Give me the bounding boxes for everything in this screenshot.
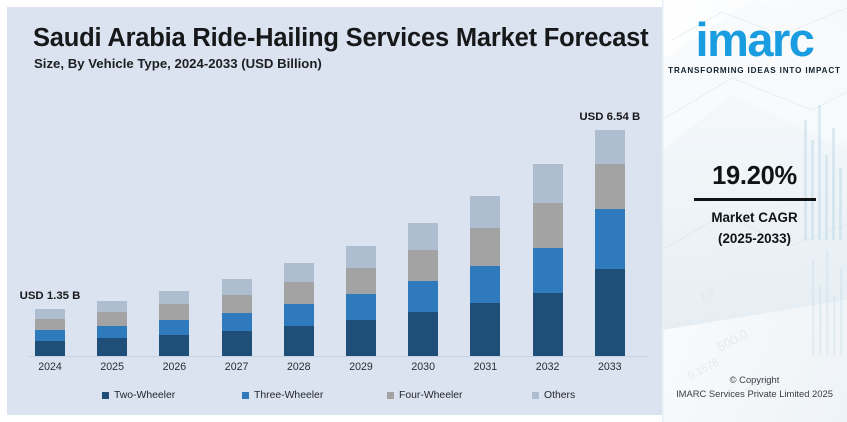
legend-item-others[interactable]: Others [532, 390, 575, 401]
bar-segment-others [408, 223, 438, 250]
bar-segment-three-wheeler [222, 313, 252, 331]
chart-subtitle: Size, By Vehicle Type, 2024-2033 (USD Bi… [34, 56, 322, 71]
legend-label: Others [544, 390, 575, 401]
bar-segment-two-wheeler [533, 293, 563, 356]
x-axis-label: 2026 [146, 361, 202, 373]
bar-segment-others [97, 301, 127, 312]
bar-column [97, 301, 127, 356]
legend-item-three-wheeler[interactable]: Three-Wheeler [242, 390, 323, 401]
copyright-block: © Copyright IMARC Services Private Limit… [662, 373, 847, 400]
chart-legend: Two-WheelerThree-WheelerFour-WheelerOthe… [102, 388, 622, 402]
legend-label: Three-Wheeler [254, 390, 323, 401]
bar-column [159, 291, 189, 356]
bar-column [35, 309, 65, 356]
bar-segment-three-wheeler [159, 320, 189, 335]
chart-title: Saudi Arabia Ride-Hailing Services Marke… [33, 24, 648, 53]
bar-value-label: USD 6.54 B [572, 111, 648, 123]
bar-segment-two-wheeler [284, 326, 314, 356]
bar-segment-two-wheeler [595, 269, 625, 356]
x-axis-label: 2027 [209, 361, 265, 373]
cagr-block: 19.20% Market CAGR (2025-2033) [662, 162, 847, 246]
bar-segment-two-wheeler [159, 335, 189, 356]
axis-baseline [29, 356, 649, 357]
legend-label: Two-Wheeler [114, 390, 175, 401]
x-axis-label: 2033 [582, 361, 638, 373]
imarc-logo: imarc TRANSFORMING IDEAS INTO IMPACT [662, 16, 847, 75]
bar-segment-three-wheeler [408, 281, 438, 312]
legend-swatch-icon [387, 392, 394, 399]
bar-column [408, 223, 438, 356]
bar-segment-three-wheeler [533, 248, 563, 292]
logo-tagline: TRANSFORMING IDEAS INTO IMPACT [662, 66, 847, 75]
cagr-value: 19.20% [662, 162, 847, 191]
legend-swatch-icon [242, 392, 249, 399]
logo-wordmark: imarc [696, 16, 814, 63]
bar-segment-four-wheeler [595, 164, 625, 209]
bar-column [284, 263, 314, 356]
bar-segment-four-wheeler [35, 319, 65, 330]
bar-segment-others [159, 291, 189, 304]
x-axis-label: 2024 [22, 361, 78, 373]
bar-column [346, 246, 376, 356]
chart-inner: Saudi Arabia Ride-Hailing Services Marke… [7, 7, 662, 415]
cagr-divider [694, 198, 816, 201]
infographic-frame: Saudi Arabia Ride-Hailing Services Marke… [0, 0, 847, 422]
copyright-line-2: IMARC Services Private Limited 2025 [662, 387, 847, 401]
bar-value-label: USD 1.35 B [12, 290, 88, 302]
copyright-line-1: © Copyright [662, 373, 847, 387]
bar-column [222, 279, 252, 356]
cagr-label: Market CAGR [662, 210, 847, 225]
bar-segment-others [35, 309, 65, 319]
bar-segment-four-wheeler [284, 282, 314, 304]
bar-column [470, 196, 500, 356]
bar-segment-two-wheeler [346, 320, 376, 356]
bar-segment-three-wheeler [346, 294, 376, 320]
bar-segment-four-wheeler [97, 312, 127, 325]
bar-segment-two-wheeler [35, 341, 65, 356]
x-axis-label: 2028 [271, 361, 327, 373]
bar-column [533, 164, 563, 356]
bar-segment-three-wheeler [470, 266, 500, 303]
bar-segment-three-wheeler [97, 326, 127, 338]
x-axis-label: 2032 [520, 361, 576, 373]
legend-label: Four-Wheeler [399, 390, 463, 401]
legend-swatch-icon [102, 392, 109, 399]
x-axis-label: 2025 [84, 361, 140, 373]
bar-segment-others [533, 164, 563, 202]
bar-segment-four-wheeler [408, 250, 438, 281]
bar-segment-three-wheeler [35, 330, 65, 340]
bar-segment-two-wheeler [470, 303, 500, 356]
legend-item-two-wheeler[interactable]: Two-Wheeler [102, 390, 175, 401]
x-axis-label: 2031 [457, 361, 513, 373]
bar-segment-others [222, 279, 252, 295]
bar-segment-four-wheeler [222, 295, 252, 313]
cagr-period: (2025-2033) [662, 231, 847, 246]
bar-segment-others [346, 246, 376, 268]
bar-segment-others [470, 196, 500, 228]
bar-segment-others [595, 130, 625, 164]
chart-panel: Saudi Arabia Ride-Hailing Services Marke… [0, 0, 662, 422]
bar-segment-three-wheeler [284, 304, 314, 325]
legend-swatch-icon [532, 392, 539, 399]
x-axis-label: 2029 [333, 361, 389, 373]
bar-segment-others [284, 263, 314, 282]
bar-segment-four-wheeler [470, 228, 500, 266]
bar-column [595, 130, 625, 356]
brand-panel: 500.0 0.1578 27788 2.3 imarc TRANSFORMIN… [662, 0, 847, 422]
bar-segment-two-wheeler [408, 312, 438, 356]
bar-segment-four-wheeler [346, 268, 376, 294]
bar-segment-two-wheeler [222, 331, 252, 356]
legend-item-four-wheeler[interactable]: Four-Wheeler [387, 390, 463, 401]
x-axis-label: 2030 [395, 361, 451, 373]
bar-segment-four-wheeler [533, 203, 563, 249]
bar-segment-four-wheeler [159, 304, 189, 320]
bar-segment-three-wheeler [595, 209, 625, 270]
bar-segment-two-wheeler [97, 338, 127, 356]
